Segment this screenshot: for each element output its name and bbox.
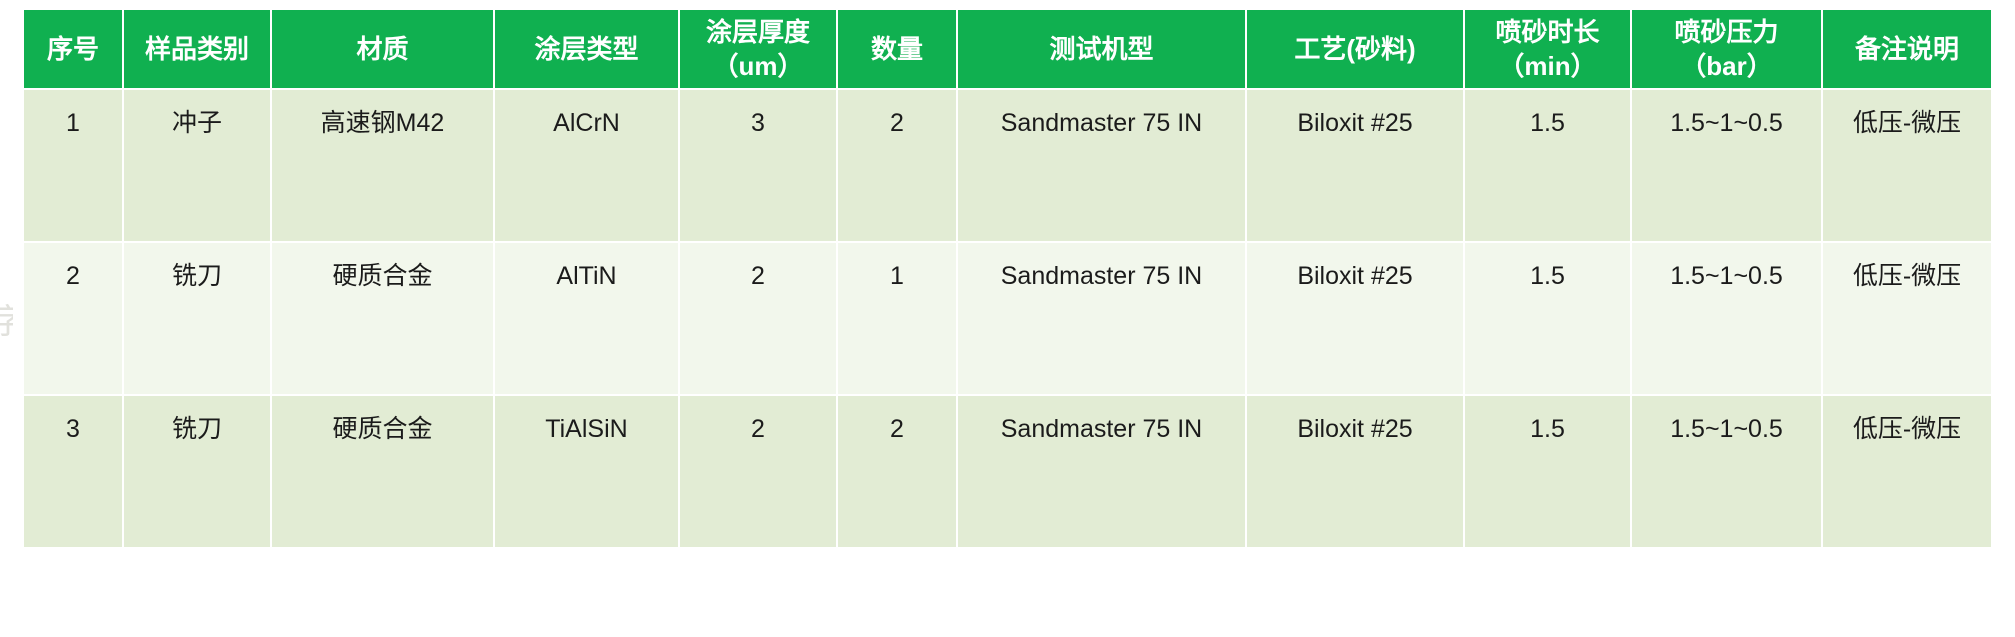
table-row: 3 铣刀 硬质合金 TiAlSiN 2 2 Sandmaster 75 IN B…: [24, 396, 1991, 547]
cell-sample-category: 铣刀: [124, 396, 270, 547]
cell-sample-category: 冲子: [124, 90, 270, 241]
cell-coating-thickness: 3: [680, 90, 836, 241]
cell-test-machine: Sandmaster 75 IN: [958, 243, 1245, 394]
column-header-coating-type: 涂层类型: [495, 10, 678, 88]
cell-coating-type: AlCrN: [495, 90, 678, 241]
column-header-index: 序号: [24, 10, 122, 88]
cell-coating-type: TiAlSiN: [495, 396, 678, 547]
table-header: 序号 样品类别 材质 涂层类型 涂层厚度 （um） 数量 测试机型 工艺(砂料)…: [24, 10, 1991, 88]
cell-blast-time: 1.5: [1465, 396, 1630, 547]
table-row: 1 冲子 高速钢M42 AlCrN 3 2 Sandmaster 75 IN B…: [24, 90, 1991, 241]
sample-table-container: 序号 样品类别 材质 涂层类型 涂层厚度 （um） 数量 测试机型 工艺(砂料)…: [22, 8, 1993, 549]
column-header-material: 材质: [272, 10, 493, 88]
table-header-row: 序号 样品类别 材质 涂层类型 涂层厚度 （um） 数量 测试机型 工艺(砂料)…: [24, 10, 1991, 88]
cell-blast-time: 1.5: [1465, 243, 1630, 394]
cell-process-media: Biloxit #25: [1247, 90, 1463, 241]
cell-process-media: Biloxit #25: [1247, 243, 1463, 394]
cell-blast-time: 1.5: [1465, 90, 1630, 241]
column-header-coating-thickness: 涂层厚度 （um）: [680, 10, 836, 88]
column-header-sample-category: 样品类别: [124, 10, 270, 88]
cell-blast-pressure: 1.5~1~0.5: [1632, 396, 1821, 547]
column-header-blast-time: 喷砂时长 （min）: [1465, 10, 1630, 88]
column-header-quantity: 数量: [838, 10, 956, 88]
cell-index: 3: [24, 396, 122, 547]
cell-coating-type: AlTiN: [495, 243, 678, 394]
cell-blast-pressure: 1.5~1~0.5: [1632, 90, 1821, 241]
cell-quantity: 2: [838, 396, 956, 547]
cell-test-machine: Sandmaster 75 IN: [958, 90, 1245, 241]
cell-index: 2: [24, 243, 122, 394]
cell-material: 高速钢M42: [272, 90, 493, 241]
cell-quantity: 1: [838, 243, 956, 394]
table-body: 1 冲子 高速钢M42 AlCrN 3 2 Sandmaster 75 IN B…: [24, 90, 1991, 547]
cell-coating-thickness: 2: [680, 243, 836, 394]
cell-index: 1: [24, 90, 122, 241]
cell-material: 硬质合金: [272, 396, 493, 547]
cell-sample-category: 铣刀: [124, 243, 270, 394]
cell-remarks: 低压-微压: [1823, 243, 1991, 394]
document-page: 字 序号 样品类别 材质 涂层类型 涂层厚度 （um） 数量 测试机型 工艺(砂…: [0, 0, 2015, 637]
table-row: 2 铣刀 硬质合金 AlTiN 2 1 Sandmaster 75 IN Bil…: [24, 243, 1991, 394]
column-header-process-media: 工艺(砂料): [1247, 10, 1463, 88]
cell-blast-pressure: 1.5~1~0.5: [1632, 243, 1821, 394]
cell-test-machine: Sandmaster 75 IN: [958, 396, 1245, 547]
cell-remarks: 低压-微压: [1823, 396, 1991, 547]
cell-coating-thickness: 2: [680, 396, 836, 547]
cell-remarks: 低压-微压: [1823, 90, 1991, 241]
column-header-test-machine: 测试机型: [958, 10, 1245, 88]
left-margin-clipped-glyph: 字: [0, 300, 13, 390]
cell-material: 硬质合金: [272, 243, 493, 394]
column-header-remarks: 备注说明: [1823, 10, 1991, 88]
cell-process-media: Biloxit #25: [1247, 396, 1463, 547]
sample-parameters-table: 序号 样品类别 材质 涂层类型 涂层厚度 （um） 数量 测试机型 工艺(砂料)…: [22, 8, 1993, 549]
column-header-blast-pressure: 喷砂压力 （bar）: [1632, 10, 1821, 88]
cell-quantity: 2: [838, 90, 956, 241]
